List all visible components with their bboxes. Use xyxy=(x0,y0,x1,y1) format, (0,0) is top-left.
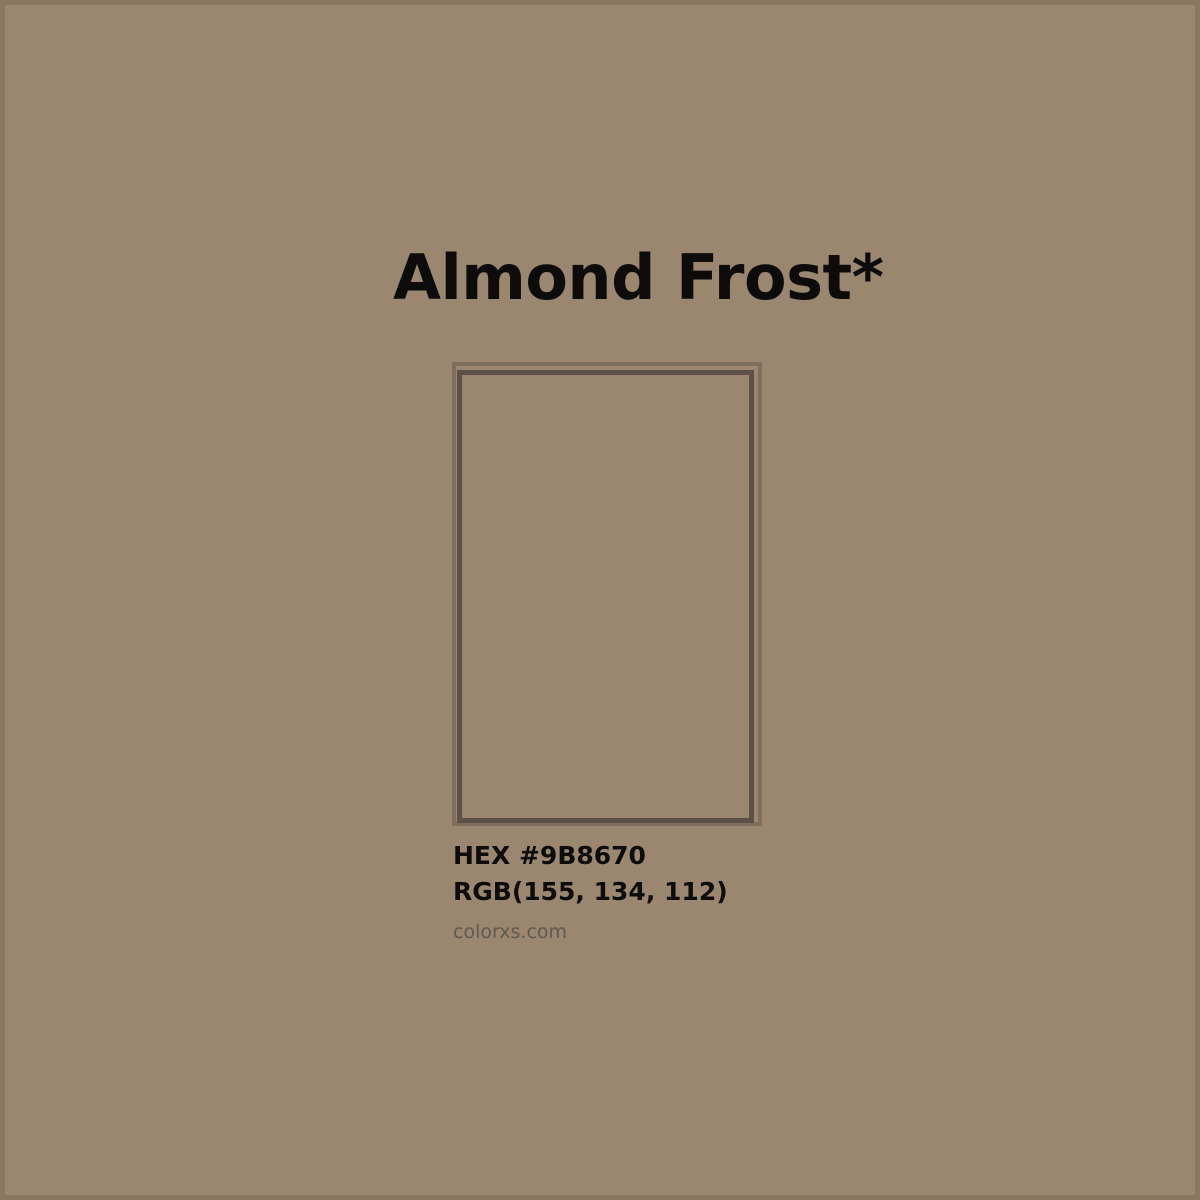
rgb-value-label: RGB(155, 134, 112) xyxy=(453,874,973,910)
color-info-block: HEX #9B8670 RGB(155, 134, 112) colorxs.c… xyxy=(453,838,973,943)
color-card: Almond Frost* HEX #9B8670 RGB(155, 134, … xyxy=(0,0,1200,1200)
color-swatch-inner-frame xyxy=(457,370,754,823)
hex-value-label: HEX #9B8670 xyxy=(453,838,973,874)
site-watermark: colorxs.com xyxy=(453,921,973,943)
page-title: Almond Frost* xyxy=(393,247,884,309)
